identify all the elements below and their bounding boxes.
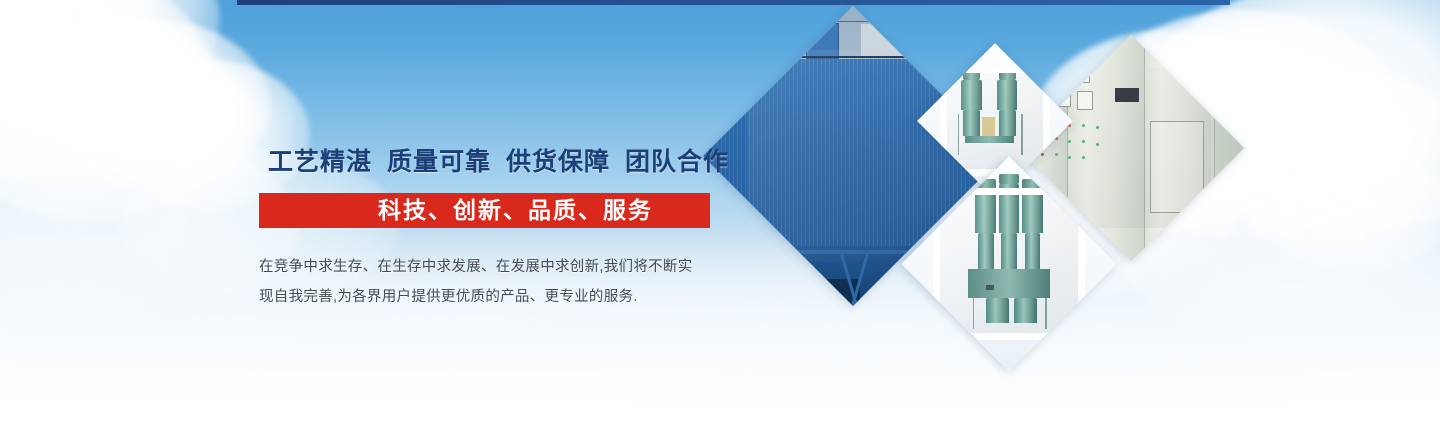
cyclone-support (1045, 298, 1047, 329)
photo-rail (723, 21, 946, 22)
cyclone-support (1021, 114, 1023, 155)
cyclone-cap (1022, 179, 1043, 189)
cyclone-discharge (986, 298, 1009, 324)
slogan-banner: 科技、创新、品质、服务 (259, 193, 710, 228)
cyclone-barrel (999, 184, 1020, 233)
top-accent-rule (237, 0, 1230, 5)
cyclone-collector-box (968, 269, 1051, 297)
description-line-2: 现自我完善,为各界用户提供更优质的产品、更专业的服务. (259, 282, 739, 312)
cyclone-barrel (975, 189, 996, 233)
indicator-light (1096, 143, 1099, 146)
photo-roof-unit (806, 23, 838, 59)
cabinet-door (1150, 121, 1204, 213)
cyclone-base (965, 136, 1014, 143)
cyclone-cap (999, 71, 1016, 80)
cabinet-meter (1052, 61, 1068, 80)
cyclone-support (958, 114, 960, 155)
cyclone-barrel (997, 80, 1018, 110)
cabinet-meter (1055, 88, 1071, 107)
photo-roofline (703, 56, 1003, 58)
cyclone-cone (999, 110, 1016, 136)
cabinet-meter (1074, 64, 1090, 83)
headline-part-4: 团队合作 (625, 148, 729, 176)
cabinet-meter (1030, 58, 1046, 77)
cyclone-barrel (961, 80, 982, 110)
cyclone-port (986, 285, 994, 290)
photo-roof-unit (925, 23, 954, 59)
cyclone-cone (963, 110, 980, 136)
cyclone-cone (1025, 233, 1041, 269)
cyclone-discharge (1014, 298, 1037, 324)
indicator-light (1096, 126, 1099, 129)
slogan-text: 科技、创新、品质、服务 (316, 199, 653, 222)
headline: 工艺精湛质量可靠供货保障团队合作 (268, 150, 739, 175)
description-paragraph: 在竞争中求生存、在生存中求发展、在发展中求创新,我们将不断实 现自我完善,为各界… (259, 252, 739, 312)
banner-copy: 工艺精湛质量可靠供货保障团队合作 科技、创新、品质、服务 在竞争中求生存、在生存… (259, 150, 739, 312)
cyclone-support (973, 298, 975, 329)
indicator-light (1082, 140, 1085, 143)
cyclone-cap (999, 174, 1020, 184)
hero-banner: 工艺精湛质量可靠供货保障团队合作 科技、创新、品质、服务 在竞争中求生存、在生存… (0, 0, 1440, 440)
cyclone-cone (1001, 233, 1017, 269)
product-image-collage (735, 20, 1295, 420)
description-line-1: 在竞争中求生存、在生存中求发展、在发展中求创新,我们将不断实 (259, 252, 739, 282)
indicator-light (1082, 124, 1085, 127)
photo-roof-unit (738, 23, 778, 59)
photo-roof-unit (860, 23, 910, 59)
cabinet-meter (1077, 91, 1093, 110)
photo-support-leg (743, 249, 770, 306)
headline-part-1: 工艺精湛 (268, 148, 372, 176)
cyclone-cap (963, 71, 980, 80)
cyclone-barrel (1022, 189, 1043, 233)
headline-part-2: 质量可靠 (387, 148, 491, 176)
cabinet-nameplate (1115, 88, 1139, 102)
cabinet-panel (1215, 35, 1244, 261)
cyclone-cone (978, 233, 994, 269)
headline-part-3: 供货保障 (506, 148, 610, 176)
